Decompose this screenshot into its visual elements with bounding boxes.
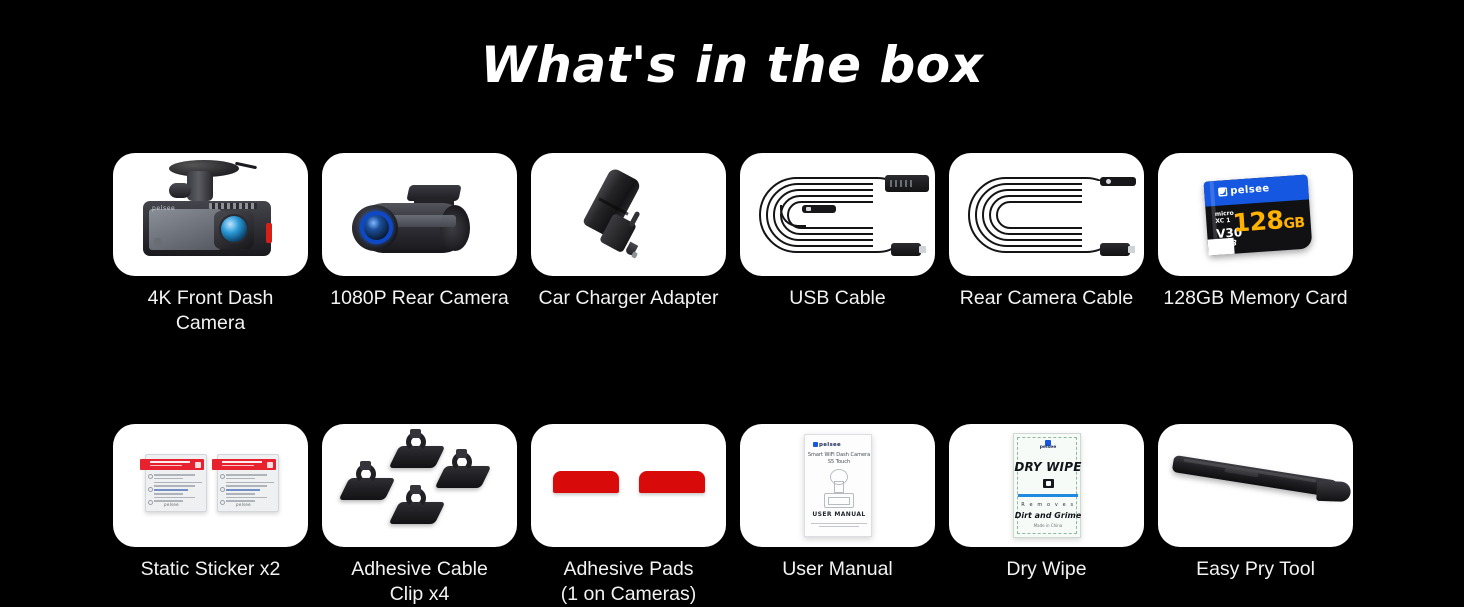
whats-in-the-box-page: What's in the box (0, 0, 1464, 600)
item-rear-camera[interactable]: 1080P Rear Camera (322, 153, 517, 336)
manual-product-title: Smart WiFi Dash Camera S5 Touch (805, 452, 873, 466)
manual-footer-label: USER MANUAL (805, 511, 873, 518)
item-car-charger-adapter[interactable]: Car Charger Adapter (531, 153, 726, 336)
card-adhesive-pads[interactable] (531, 424, 726, 547)
usb-cable-icon (740, 153, 935, 276)
item-rear-camera-cable[interactable]: Rear Camera Cable (949, 153, 1144, 336)
item-caption: Static Sticker x2 (141, 557, 281, 582)
wipe-removes-label: R e m o v e s (1014, 502, 1082, 508)
item-adhesive-pads[interactable]: Adhesive Pads (1 on Cameras) (531, 424, 726, 607)
wipe-brand-label: pelsee (1014, 445, 1082, 450)
item-caption: 4K Front Dash Camera (113, 286, 308, 336)
item-front-dash-camera[interactable]: pelsee 4K Front Dash Camera (113, 153, 308, 336)
card-static-sticker[interactable]: pelsee pelsee (113, 424, 308, 547)
item-caption: 128GB Memory Card (1163, 286, 1347, 311)
item-easy-pry-tool[interactable]: Easy Pry Tool (1158, 424, 1353, 607)
wipe-subtitle-label: Dirt and Grime (1014, 511, 1082, 520)
card-memory-card[interactable]: pelsee micro XC 1 V30 A2 3 128GB (1158, 153, 1353, 276)
adhesive-pads-icon (531, 424, 726, 547)
memory-card-capacity-label: 128GB (1232, 204, 1306, 238)
item-usb-cable[interactable]: USB Cable (740, 153, 935, 336)
card-easy-pry-tool[interactable] (1158, 424, 1353, 547)
card-rear-camera[interactable] (322, 153, 517, 276)
item-caption: 1080P Rear Camera (330, 286, 509, 311)
item-caption: Car Charger Adapter (539, 286, 719, 311)
memory-card-icon: pelsee micro XC 1 V30 A2 3 128GB (1158, 153, 1353, 276)
item-static-sticker[interactable]: pelsee pelsee (113, 424, 308, 607)
card-car-charger-adapter[interactable] (531, 153, 726, 276)
adhesive-cable-clip-icon (322, 424, 517, 547)
manual-brand-label: pelsee (819, 442, 841, 448)
card-rear-camera-cable[interactable] (949, 153, 1144, 276)
item-caption: USB Cable (789, 286, 885, 311)
sticker-brand-label: pelsee (164, 502, 179, 507)
item-caption: Easy Pry Tool (1196, 557, 1315, 582)
camera-brand-label: pelsee (152, 205, 175, 212)
card-adhesive-cable-clip[interactable] (322, 424, 517, 547)
wipe-title-label: DRY WIPE (1014, 460, 1082, 474)
items-row-1: pelsee 4K Front Dash Camera (113, 153, 1353, 336)
card-front-dash-camera[interactable]: pelsee (113, 153, 308, 276)
item-user-manual[interactable]: pelsee Smart WiFi Dash Camera S5 Touch U… (740, 424, 935, 607)
page-title: What's in the box (0, 36, 1464, 94)
item-caption: Rear Camera Cable (960, 286, 1133, 311)
card-usb-cable[interactable] (740, 153, 935, 276)
user-manual-icon: pelsee Smart WiFi Dash Camera S5 Touch U… (740, 424, 935, 547)
item-dry-wipe[interactable]: pelsee DRY WIPE R e m o v e s Dirt and G… (949, 424, 1144, 607)
item-caption: User Manual (782, 557, 893, 582)
item-caption: Dry Wipe (1006, 557, 1086, 582)
car-charger-adapter-icon (531, 153, 726, 276)
rear-camera-cable-icon (949, 153, 1144, 276)
wipe-origin-label: Made in China (1014, 523, 1082, 528)
items-row-2: pelsee pelsee (113, 424, 1353, 607)
easy-pry-tool-icon (1158, 424, 1353, 547)
items-grid: pelsee 4K Front Dash Camera (113, 153, 1353, 607)
sticker-brand-label: pelsee (236, 502, 251, 507)
static-sticker-icon: pelsee pelsee (113, 424, 308, 547)
item-memory-card[interactable]: pelsee micro XC 1 V30 A2 3 128GB 128GB M… (1158, 153, 1353, 336)
card-user-manual[interactable]: pelsee Smart WiFi Dash Camera S5 Touch U… (740, 424, 935, 547)
card-dry-wipe[interactable]: pelsee DRY WIPE R e m o v e s Dirt and G… (949, 424, 1144, 547)
rear-camera-icon (322, 153, 517, 276)
front-dash-camera-icon: pelsee (113, 153, 308, 276)
item-adhesive-cable-clip[interactable]: Adhesive Cable Clip x4 (322, 424, 517, 607)
dry-wipe-icon: pelsee DRY WIPE R e m o v e s Dirt and G… (949, 424, 1144, 547)
